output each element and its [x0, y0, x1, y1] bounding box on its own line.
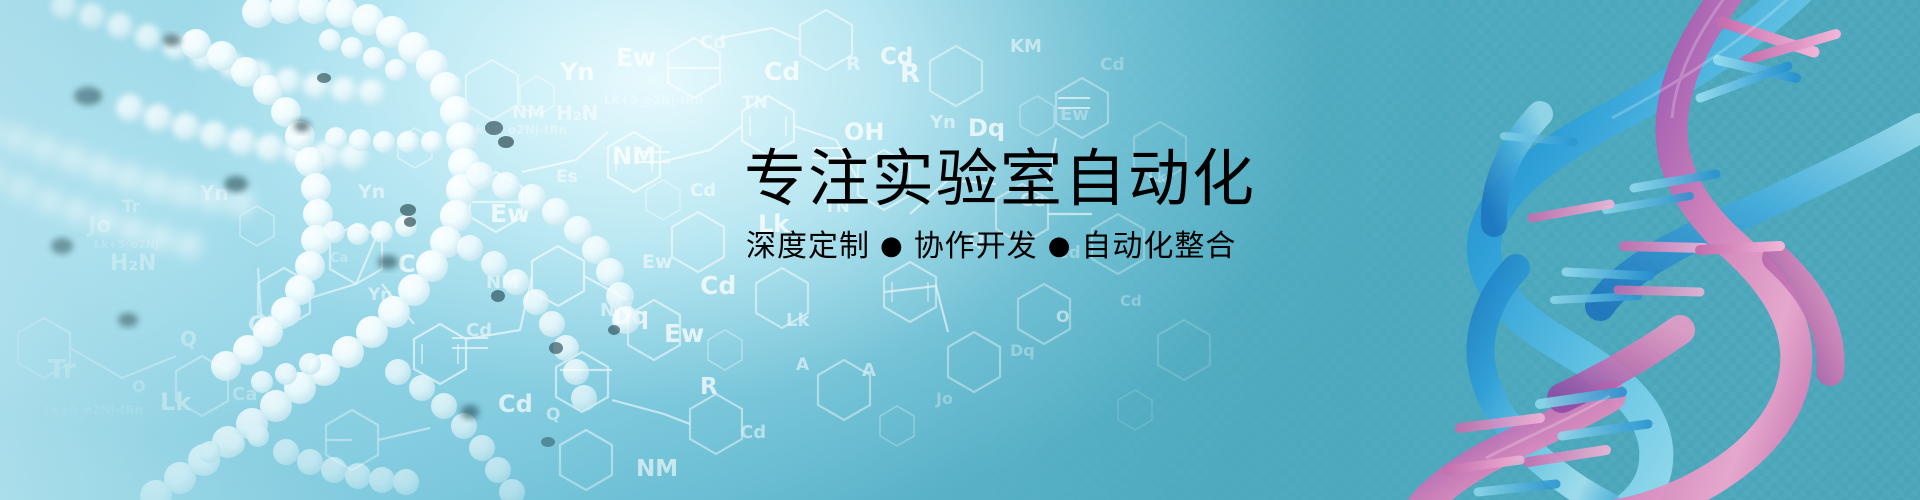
- banner-text-block: 专注实验室自动化 深度定制●协作开发●自动化整合: [744, 148, 1304, 262]
- subtitle-item-3: 自动化整合: [1081, 229, 1236, 264]
- banner-subtitle: 深度定制●协作开发●自动化整合: [746, 232, 1304, 262]
- page-title: 专注实验室自动化: [744, 148, 1304, 210]
- subtitle-item-2: 协作开发: [914, 229, 1038, 264]
- subtitle-item-1: 深度定制: [746, 229, 870, 264]
- hero-banner: Tr Lk+5_o2Nj-tRn Lk Q Ca GH H₂N Jo Lk+5_…: [0, 0, 1920, 500]
- bullet-separator-icon: ●: [880, 233, 904, 259]
- bullet-separator-icon: ●: [1048, 233, 1072, 259]
